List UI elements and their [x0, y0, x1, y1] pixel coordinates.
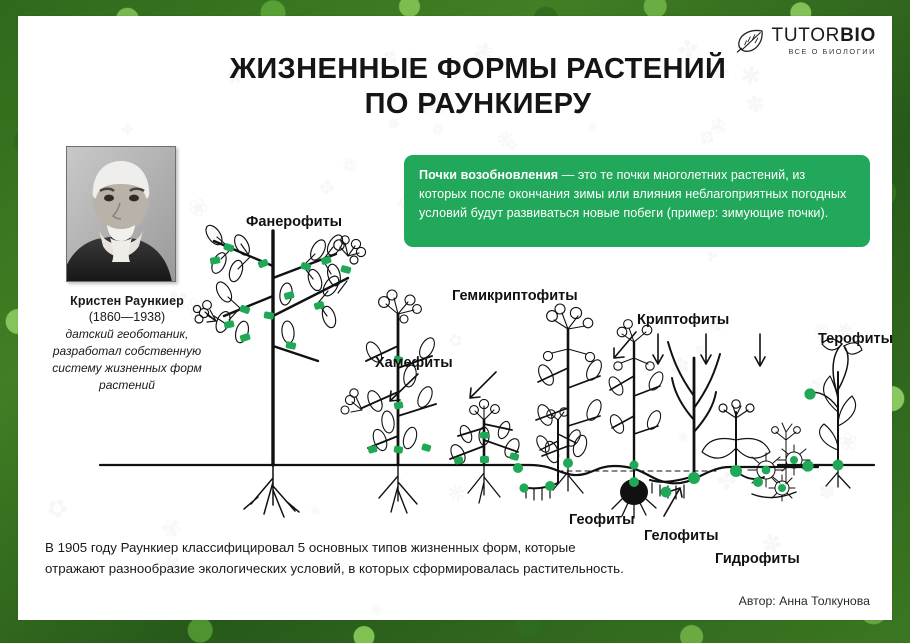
brand-logo[interactable]: TUTORBIO ВСЕ О БИОЛОГИИ — [735, 26, 876, 55]
helophyte-plant — [650, 342, 720, 499]
watermark-glyph: ✽ — [670, 352, 692, 377]
infographic-stage: ☘✥❋❀✾✥❁❀❋✾❁✽✾✥✥✽❁✤❁✤✤✾✥✽✱❀✽❋✿✽✱✥☘❀✤☘✤✿❀✱… — [0, 0, 910, 643]
chamaephyte-plant — [448, 399, 522, 503]
watermark-glyph: ✤ — [121, 123, 134, 139]
portrait-photo — [66, 146, 176, 282]
ground-line-water — [530, 465, 818, 483]
raunkiaer-portrait-image — [66, 146, 176, 282]
watermark-glyph: ❀ — [674, 428, 693, 446]
watermark-glyph: ❀ — [183, 196, 209, 218]
callout-term: Почки возобновления — [419, 168, 558, 182]
leaf-icon — [735, 28, 765, 54]
watermark-glyph: ✤ — [691, 342, 707, 358]
label-cryptophytes: Криптофиты — [637, 312, 729, 328]
watermark-glyph: ❁ — [338, 155, 360, 175]
phanerophyte-shrub — [341, 290, 437, 513]
watermark-glyph: ✿ — [447, 329, 466, 350]
hydrophyte-plant — [702, 400, 810, 501]
watermark-glyph: ❋ — [492, 127, 516, 149]
watermark-glyph: ✥ — [693, 124, 720, 150]
summary-text: В 1905 году Раункиер классифицировал 5 о… — [45, 538, 625, 579]
renewal-buds — [210, 243, 844, 498]
watermark-glyph: ❋ — [368, 600, 388, 620]
portrait-caption: Кристен Раункиер (1860—1938) датский гео… — [38, 294, 216, 394]
phanerophyte-plant — [193, 223, 365, 517]
logo-name-bold: BIO — [840, 25, 876, 46]
label-phanerophytes: Фанерофиты — [246, 214, 342, 230]
watermark-glyph: ✤ — [716, 470, 736, 494]
author-credit: Автор: Анна Толкунова — [739, 594, 870, 608]
scientist-name: Кристен Раункиер — [38, 294, 216, 308]
scientist-description: датский геоботаник, разработал собственн… — [38, 326, 216, 394]
page-title: ЖИЗНЕННЫЕ ФОРМЫ РАСТЕНИЙ ПО РАУНКИЕРУ — [138, 52, 818, 123]
rhizome-geophyte — [522, 408, 583, 500]
logo-name-light: TUTOR — [772, 25, 841, 46]
watermark-glyph: ☘ — [809, 457, 826, 474]
watermark-glyph: ✿ — [42, 494, 74, 526]
label-hydrophytes: Гидрофиты — [715, 551, 800, 567]
watermark-glyph: ✽ — [812, 479, 838, 504]
content-card: ☘✥❋❀✾✥❁❀❋✾❁✽✾✥✥✽❁✤❁✤✤✾✥✽✱❀✽❋✿✽✱✥☘❀✤☘✤✿❀✱… — [18, 16, 892, 620]
watermark-glyph: ❀ — [388, 475, 413, 497]
watermark-glyph: ☘ — [703, 247, 723, 268]
bulb — [620, 479, 648, 505]
watermark-glyph: ❁ — [572, 417, 591, 437]
watermark-glyph: ✥ — [317, 178, 336, 200]
label-hemicryptophytes: Гемикриптофиты — [452, 288, 578, 304]
watermark-glyph: ❋ — [307, 504, 323, 520]
title-line-2: ПО РАУНКИЕРУ — [138, 87, 818, 122]
watermark-glyph: ❀ — [832, 428, 862, 457]
geophyte-plant — [606, 320, 666, 518]
title-line-1: ЖИЗНЕННЫЕ ФОРМЫ РАСТЕНИЙ — [138, 52, 818, 87]
label-geophytes: Геофиты — [569, 512, 635, 528]
scientist-years: (1860—1938) — [38, 310, 216, 324]
watermark-glyph: ✥ — [204, 224, 227, 243]
watermark-glyph: ✾ — [807, 375, 828, 399]
watermark-glyph: ✥ — [505, 136, 518, 151]
label-chamaephytes: Хамефиты — [375, 355, 453, 371]
hemicryptophyte-plant — [535, 304, 604, 493]
label-therophytes: Терофиты — [818, 331, 892, 347]
definition-callout: Почки возобновления — это те почки много… — [404, 155, 870, 247]
watermark-glyph: ✥ — [361, 396, 378, 416]
therophyte-plant — [808, 339, 862, 488]
watermark-glyph: ❋ — [443, 478, 470, 506]
label-helophytes: Гелофиты — [644, 528, 719, 544]
